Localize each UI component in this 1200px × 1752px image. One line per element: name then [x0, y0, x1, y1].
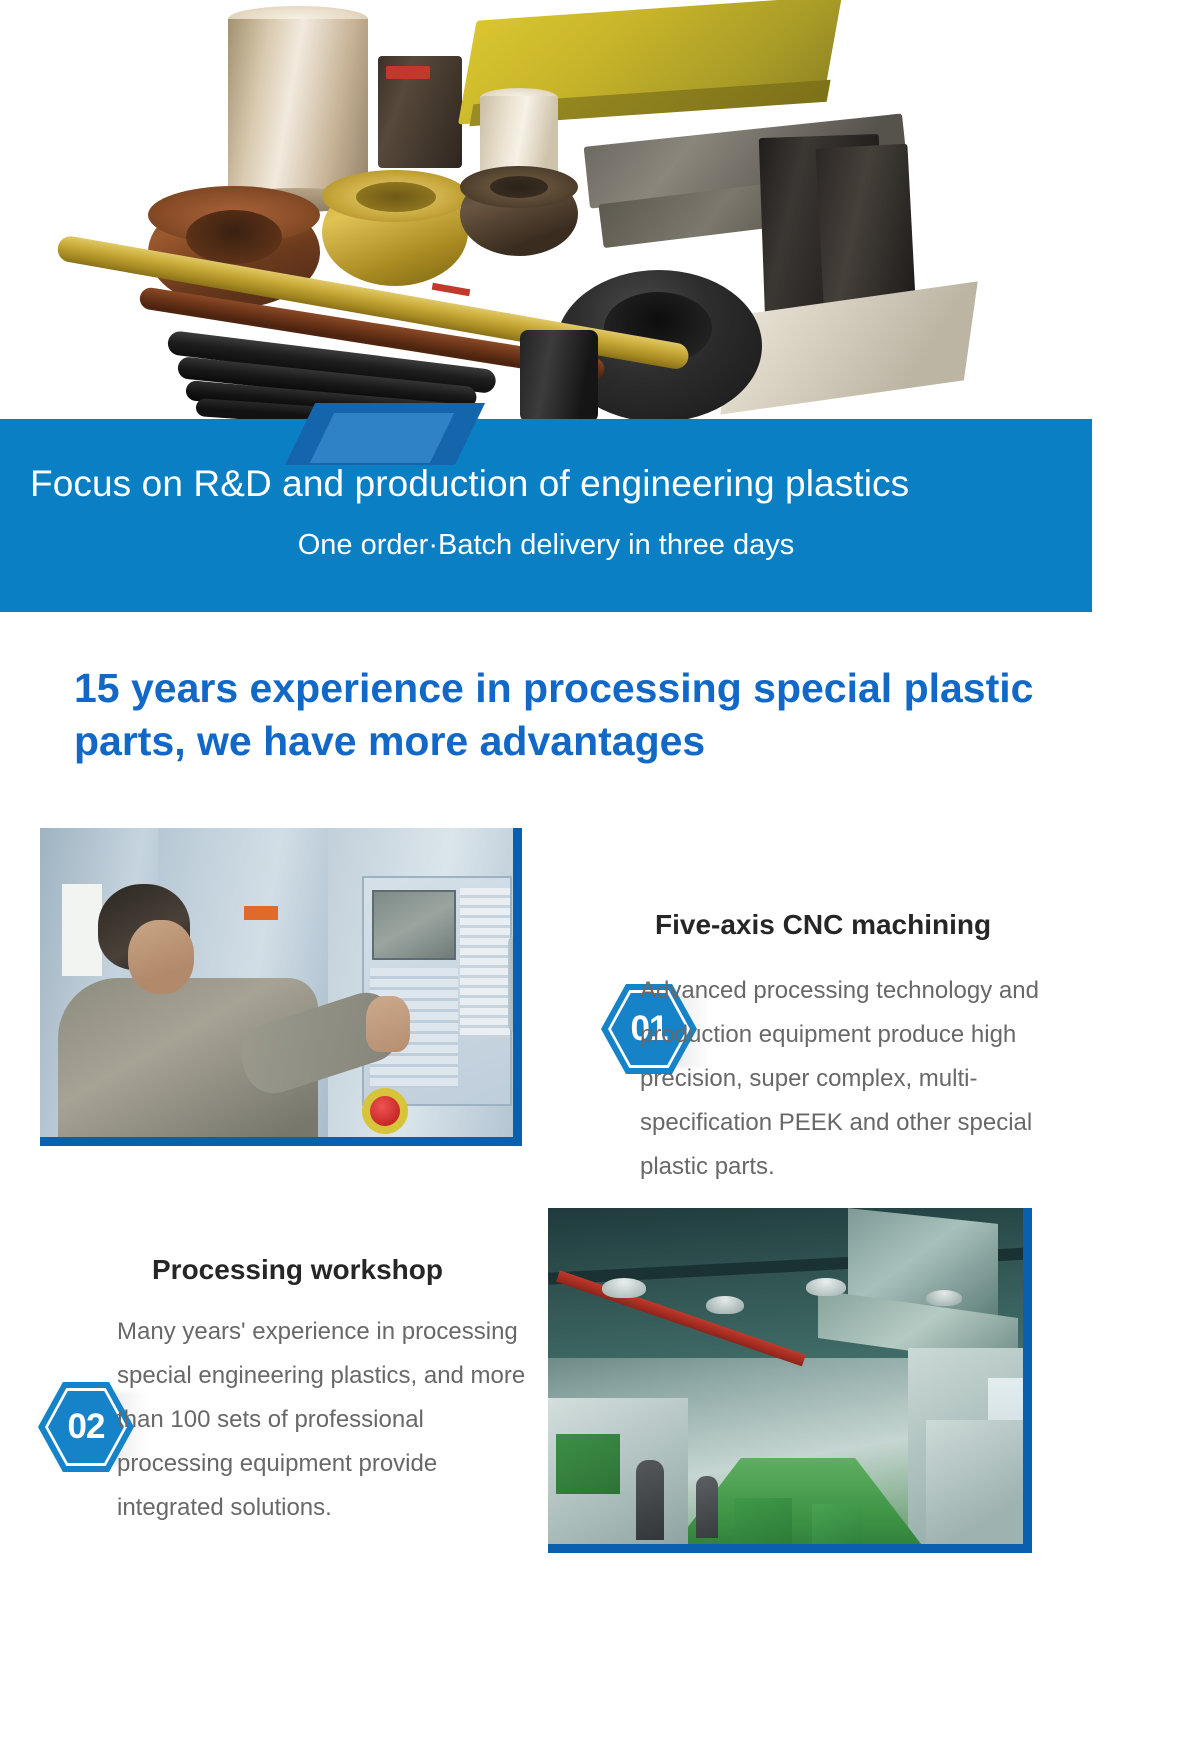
feature-02-body: Many years' experience in processing spe… — [117, 1310, 535, 1530]
emergency-stop-button — [370, 1096, 400, 1126]
feature-02-title: Processing workshop — [152, 1254, 443, 1286]
product-label-red — [386, 66, 430, 79]
feature-01-body: Advanced processing technology and produ… — [640, 969, 1070, 1189]
worker-face — [128, 920, 194, 994]
banner-accent-shape-2 — [310, 413, 454, 463]
workshop-pendant-lamp-4 — [926, 1290, 962, 1306]
dark-plastic-ring-hole — [490, 176, 548, 198]
black-plastic-cylinder — [520, 330, 598, 422]
hero-photo-stage — [0, 0, 1200, 424]
banner-primary-text: Focus on R&D and production of engineeri… — [30, 463, 1070, 505]
workshop-worker-2 — [696, 1476, 718, 1538]
product-detail-page: Focus on R&D and production of engineeri… — [0, 0, 1200, 1752]
workshop-cart-2 — [812, 1504, 862, 1546]
workshop-machine-left-panel — [556, 1434, 620, 1494]
feature-01-photo — [40, 828, 522, 1146]
worker-hand — [366, 996, 410, 1052]
workshop-worker-1 — [636, 1460, 664, 1540]
feature-01-title: Five-axis CNC machining — [655, 909, 991, 941]
cream-cylinder-body — [480, 96, 558, 176]
cabinet-door-handle — [508, 936, 522, 1032]
posted-document — [62, 884, 102, 976]
workshop-pendant-lamp-1 — [602, 1278, 646, 1298]
hero-product-photo — [0, 0, 1200, 424]
workshop-pendant-lamp-3 — [806, 1278, 846, 1296]
cnc-display-screen — [372, 890, 456, 960]
banner-secondary-text: One order·Batch delivery in three days — [0, 529, 1092, 562]
headline-banner: Focus on R&D and production of engineeri… — [0, 419, 1092, 612]
brown-plastic-ring-hole — [186, 210, 282, 264]
workshop-pendant-lamp-2 — [706, 1296, 744, 1314]
workshop-cart-1 — [734, 1498, 792, 1546]
cnc-keypad-right — [460, 888, 510, 1038]
workshop-machine-right — [926, 1420, 1032, 1553]
warning-sticker-orange-1 — [244, 906, 278, 920]
feature-02-photo — [548, 1208, 1032, 1553]
gold-plastic-ring-hole — [356, 182, 436, 212]
section-headline: 15 years experience in processing specia… — [74, 662, 1084, 769]
plastic-rod-large-body — [228, 19, 368, 201]
